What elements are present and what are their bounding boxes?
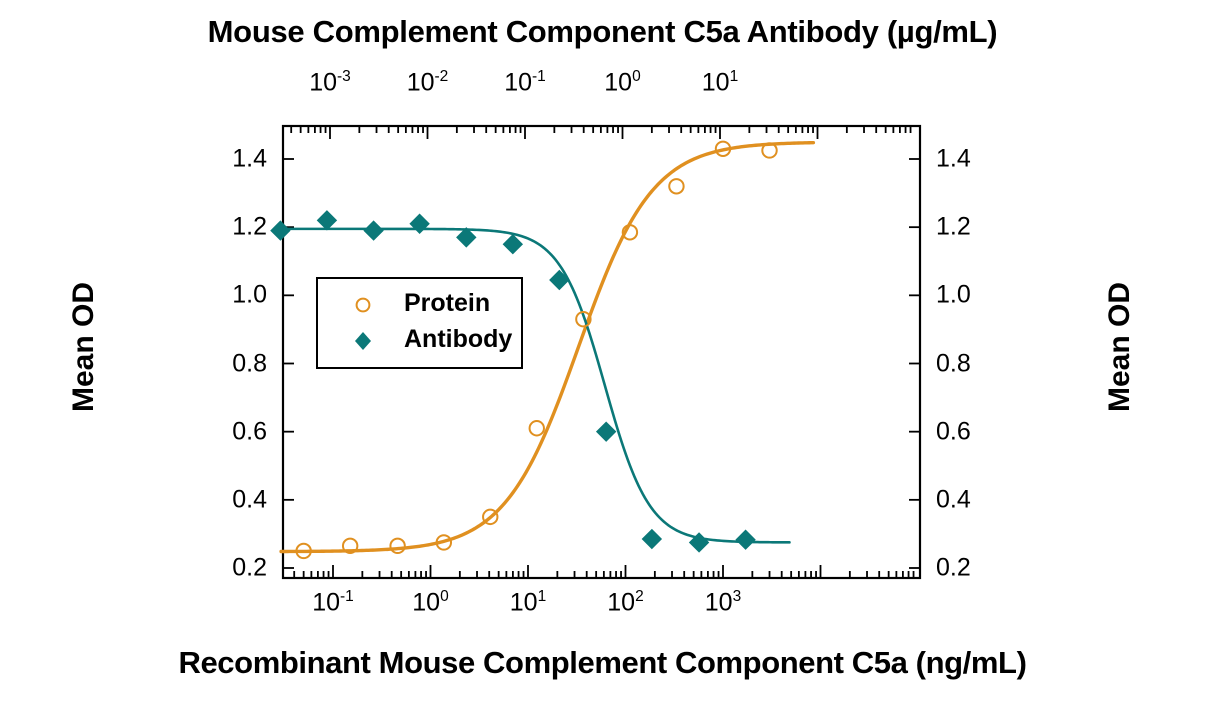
point-antibody-7 bbox=[597, 422, 616, 441]
top-axis-ticks bbox=[291, 126, 910, 139]
top-tick-label-2: 10-1 bbox=[504, 68, 546, 97]
point-antibody-3 bbox=[410, 214, 429, 233]
left-tick-label-3: 0.8 bbox=[232, 349, 267, 378]
right-tick-label-5: 1.2 bbox=[936, 213, 971, 242]
y-axis-label-left: Mean OD bbox=[67, 257, 101, 437]
right-tick-label-6: 1.4 bbox=[936, 145, 971, 174]
point-antibody-5 bbox=[503, 235, 522, 254]
bottom-tick-label-3: 102 bbox=[607, 588, 643, 617]
point-antibody-1 bbox=[317, 211, 336, 230]
left-tick-label-4: 1.0 bbox=[232, 281, 267, 310]
curve-antibody bbox=[279, 229, 789, 542]
bottom-axis-ticks bbox=[294, 565, 913, 578]
left-tick-label-1: 0.4 bbox=[232, 485, 267, 514]
point-antibody-8 bbox=[642, 530, 661, 549]
point-antibody-2 bbox=[364, 221, 383, 240]
point-protein-2 bbox=[390, 539, 404, 553]
left-tick-label-2: 0.6 bbox=[232, 417, 267, 446]
bottom-tick-label-0: 10-1 bbox=[312, 588, 354, 617]
point-protein-8 bbox=[669, 179, 683, 193]
bottom-tick-label-1: 100 bbox=[412, 588, 448, 617]
y-axis-label-right: Mean OD bbox=[1103, 257, 1137, 437]
top-tick-label-1: 10-2 bbox=[407, 68, 449, 97]
right-tick-label-0: 0.2 bbox=[936, 554, 971, 583]
legend-label-antibody: Antibody bbox=[404, 325, 512, 354]
legend-label-protein: Protein bbox=[404, 289, 490, 318]
left-tick-label-0: 0.2 bbox=[232, 554, 267, 583]
left-axis-ticks bbox=[283, 159, 294, 568]
left-tick-label-5: 1.2 bbox=[232, 213, 267, 242]
chart-legend: ProteinAntibody bbox=[316, 277, 523, 369]
right-tick-label-4: 1.0 bbox=[936, 281, 971, 310]
legend-marker-antibody bbox=[352, 327, 374, 353]
right-tick-label-3: 0.8 bbox=[936, 349, 971, 378]
bottom-tick-label-2: 101 bbox=[510, 588, 546, 617]
chart-top-title: Mouse Complement Component C5a Antibody … bbox=[0, 14, 1205, 50]
chart-bottom-title: Recombinant Mouse Complement Component C… bbox=[0, 645, 1205, 681]
right-tick-label-1: 0.4 bbox=[936, 485, 971, 514]
right-tick-label-2: 0.6 bbox=[936, 417, 971, 446]
left-tick-label-6: 1.4 bbox=[232, 145, 267, 174]
top-tick-label-0: 10-3 bbox=[309, 68, 351, 97]
bottom-tick-label-4: 103 bbox=[705, 588, 741, 617]
top-tick-label-4: 101 bbox=[702, 68, 738, 97]
point-antibody-10 bbox=[736, 530, 755, 549]
point-antibody-0 bbox=[271, 221, 290, 240]
top-tick-label-3: 100 bbox=[604, 68, 640, 97]
right-axis-ticks bbox=[909, 159, 920, 568]
legend-marker-protein bbox=[352, 291, 374, 317]
point-protein-5 bbox=[530, 421, 544, 435]
